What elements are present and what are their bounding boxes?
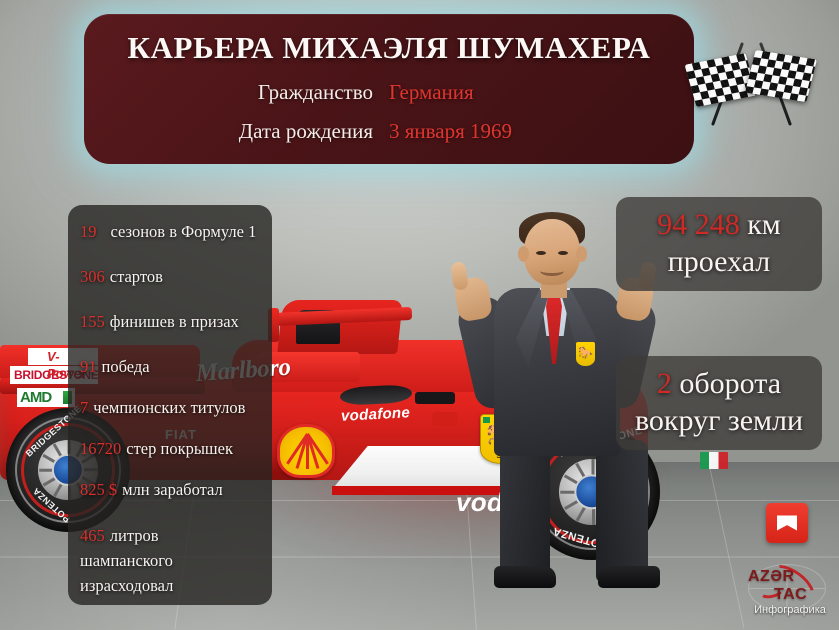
stat-number: 306 xyxy=(80,267,105,286)
header-row-citizenship: Гражданство Германия xyxy=(84,80,694,105)
page-title: КАРЬЕРА МИХАЭЛЯ ШУМАХЕРА xyxy=(84,14,694,66)
callout-unit: км xyxy=(747,208,781,241)
stat-text-line3: израсходовал xyxy=(80,573,173,598)
citizenship-value: Германия xyxy=(389,80,607,105)
stat-text: стартов xyxy=(110,267,163,286)
stat-item: 16720стер покрышек xyxy=(80,439,233,459)
person-eye-left xyxy=(536,251,546,255)
birthdate-label: Дата рождения xyxy=(171,119,389,144)
logo-azer-text: AZƏR xyxy=(748,568,795,586)
stat-text: литров xyxy=(110,526,159,545)
citizenship-label: Гражданство xyxy=(171,80,389,105)
logo-tac-text: TAC xyxy=(774,586,807,604)
person-ear-left xyxy=(518,246,529,262)
bookmark-icon[interactable] xyxy=(766,503,808,543)
callout-distance: 94 248 км проехал xyxy=(616,197,822,291)
stat-number: 19 xyxy=(80,222,97,241)
stat-text: победа xyxy=(102,357,150,376)
stat-number: 825 $ xyxy=(80,480,117,499)
person-shoe-right xyxy=(598,566,660,588)
person-eye-right xyxy=(558,251,568,255)
stat-item: 91победа xyxy=(80,357,150,377)
person-leg-right xyxy=(596,440,648,582)
stat-item: 825 $млн заработал xyxy=(80,480,223,500)
stat-number: 465 xyxy=(80,526,105,545)
ferrari-shield-icon: 🐎 xyxy=(576,342,595,366)
f1-car-headrest xyxy=(415,392,455,404)
stat-item: 155финишев в призах xyxy=(80,312,239,332)
azertac-logo: AZƏR TAC Инфографика xyxy=(742,560,838,622)
stat-number: 7 xyxy=(80,398,88,417)
stat-text: стер покрышек xyxy=(126,439,233,458)
career-stats-panel: 19сезонов в Формуле 1 306стартов 155фини… xyxy=(68,205,272,605)
stat-item: 19сезонов в Формуле 1 xyxy=(80,222,256,242)
person-ear-right xyxy=(576,246,587,262)
checkered-flag-left xyxy=(684,53,757,107)
stat-text: финишев в призах xyxy=(110,312,239,331)
stat-text: чемпионских титулов xyxy=(93,398,245,417)
checkered-racing-flags-icon xyxy=(688,28,816,132)
stat-item: 7чемпионских титулов xyxy=(80,398,245,418)
callout-number: 2 xyxy=(657,367,672,400)
header-row-birthdate: Дата рождения 3 января 1969 xyxy=(84,119,694,144)
bookmark-glyph xyxy=(777,516,797,531)
callout-earth-laps: 2 оборота вокруг земли xyxy=(616,356,822,450)
callout-caption: проехал xyxy=(616,242,822,279)
callout-line-1: 2 оборота xyxy=(616,356,822,401)
stat-number: 155 xyxy=(80,312,105,331)
amd-decal: AMD xyxy=(17,388,75,407)
stat-text: млн заработал xyxy=(122,480,223,499)
stat-item: 306стартов xyxy=(80,267,163,287)
person-smile xyxy=(540,266,564,276)
checkered-flag-right xyxy=(745,50,817,102)
italian-flag-icon xyxy=(700,452,728,469)
person-shoe-left xyxy=(494,566,556,588)
header-panel: КАРЬЕРА МИХАЭЛЯ ШУМАХЕРА Гражданство Гер… xyxy=(84,14,694,164)
stat-item: 465литров шампанского израсходовал xyxy=(80,523,173,598)
stat-text-line2: шампанского xyxy=(80,548,173,573)
vodafone-decal: vodafone xyxy=(341,404,411,425)
callout-number: 94 248 xyxy=(657,208,740,241)
birthdate-value: 3 января 1969 xyxy=(389,119,607,144)
logo-caption: Инфографика xyxy=(742,604,838,616)
callout-line-1: 94 248 км xyxy=(616,197,822,242)
callout-unit: оборота xyxy=(679,367,781,400)
stat-number: 91 xyxy=(80,357,97,376)
stat-number: 16720 xyxy=(80,439,121,458)
person-leg-left xyxy=(500,440,550,582)
stat-text: сезонов в Формуле 1 xyxy=(111,222,257,241)
shell-logo-icon xyxy=(277,424,335,478)
callout-caption: вокруг земли xyxy=(616,401,822,438)
f1-car-mirror xyxy=(432,412,458,426)
